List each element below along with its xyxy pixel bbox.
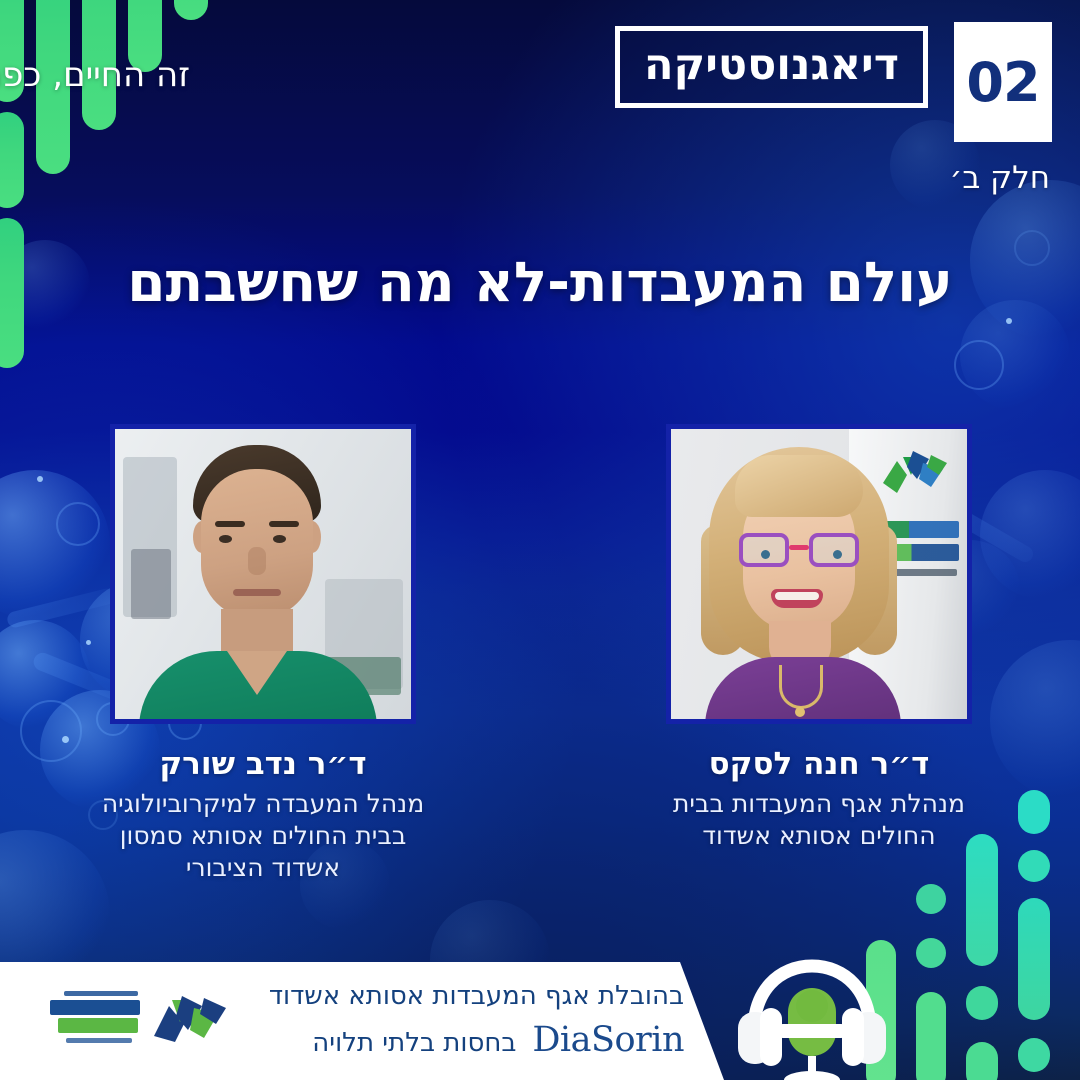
clinic-logo-icon (877, 445, 949, 507)
show-title: דיאגנוסטיקה (644, 44, 899, 87)
equalizer-bars-icon (866, 780, 1080, 1080)
poster-canvas: 02 חלק ב׳ דיאגנוסטיקה זה החיים, כפרה עול… (0, 0, 1080, 1080)
footer-line-1: בהובלת אגף המעבדות אסותא אשדוד (238, 982, 684, 1012)
speaker-name: ד״ר חנה לסקס (654, 746, 984, 782)
episode-headline: עולם המעבדות-לא מה שחשבתם (0, 252, 1080, 313)
speaker-photo-frame (110, 424, 416, 724)
poster-header: 02 חלק ב׳ דיאגנוסטיקה זה החיים, כפרה (0, 0, 1080, 220)
episode-number-badge: 02 (954, 22, 1052, 142)
speaker-photo-frame (666, 424, 972, 724)
episode-number: 02 (966, 51, 1039, 114)
speaker-name: ד״ר נדב שורק (98, 746, 428, 782)
microphone-headphones-icon (726, 952, 898, 1080)
show-tagline: זה החיים, כפרה (0, 55, 190, 95)
portrait-nadav-sorek (115, 429, 411, 719)
speaker-role: מנהל המעבדה למיקרוביולוגיה בבית החולים א… (98, 788, 428, 884)
footer-line-2-text: בחסות בלתי תלויה (312, 1028, 516, 1058)
portrait-hanna-lasks (671, 429, 967, 719)
sponsor-logo-diasorin: DiaSorin (532, 1020, 684, 1060)
speaker-card-nadav-sorek: ד״ר נדב שורק מנהל המעבדה למיקרוביולוגיה … (98, 424, 428, 884)
assuta-ashdod-logo (36, 986, 242, 1052)
part-label: חלק ב׳ (949, 160, 1050, 196)
footer-line-2: DiaSorin בחסות בלתי תלויה (238, 1020, 684, 1060)
show-title-box: דיאגנוסטיקה (615, 26, 928, 108)
poster-footer: בהובלת אגף המעבדות אסותא אשדוד DiaSorin … (0, 962, 724, 1080)
footer-credits: בהובלת אגף המעבדות אסותא אשדוד DiaSorin … (238, 982, 684, 1060)
